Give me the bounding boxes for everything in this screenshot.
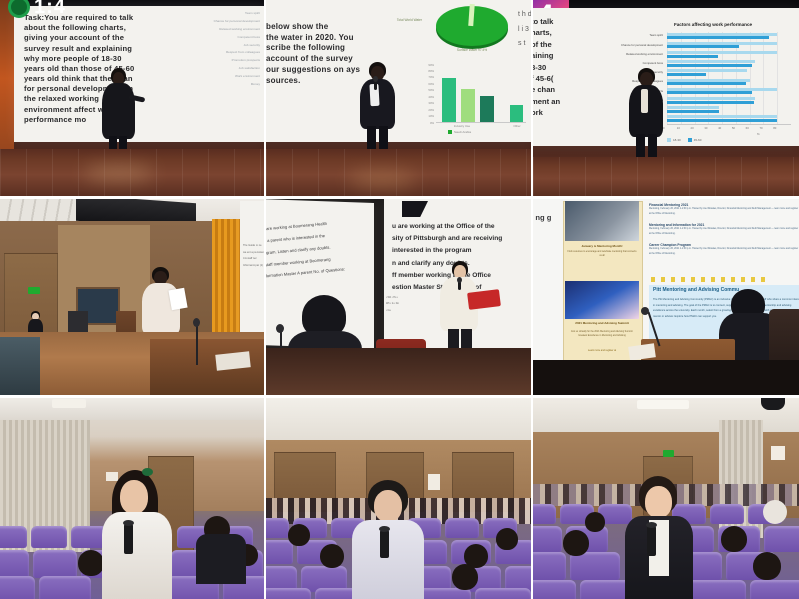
slide-side-label: Competent boss [176,34,260,42]
exit-sign [663,450,674,457]
bar-other [510,105,523,122]
y-axis-tick: 60% [428,82,434,86]
slide-line: u are working at the Office of the [392,221,531,233]
pie-chart: Total World Water Surface Water 97.5% [424,2,516,50]
newsletter-right-column: Financial Mentoring 2021Mentoring, Febru… [649,201,799,277]
white-jacket [102,512,172,599]
bar-plot-area [667,32,791,124]
pie-label-surface: Surface Water 97.5% [442,48,502,53]
slide-right-text-fragment: t h d l i 3 s t [518,8,531,52]
desk-microphone-head [641,307,649,315]
front-lectern [0,337,40,395]
bar-45-60 [667,88,777,91]
panel-top-center: below show thethe water in 2020. Youscri… [266,0,531,196]
newsletter-heading-2: 2021 Mentoring and Advising Summit [567,321,637,325]
audience-questioner-figure [352,480,428,599]
seated-person-body [196,534,246,584]
slide-line: e chan [533,84,573,95]
panel-middle-right: January is Mentoring Month! Find resourc… [533,199,799,395]
legend-swatch-45-60 [688,138,692,142]
audience-head [721,526,747,552]
chart-title: Factors affecting work performance [633,22,793,27]
legend-label: Saudi Arabia [454,130,471,134]
newsletter-cta: Learn more and register at [567,349,637,352]
slide-line: about the following charts, [24,23,172,33]
desk-microphone-head [276,324,284,333]
audience-head [288,524,310,546]
audience-head [496,528,518,550]
legend-swatch [448,130,452,134]
slide-text-fragment: to talkharts,of theaining8-30f 45-6(e ch… [533,16,573,119]
slide-line: interested in the program [392,245,531,257]
slide-text-fragment: e ng g [533,207,559,229]
slide-line: f 45-6( [533,73,573,84]
pie-label-total: Total World Water [364,18,422,22]
audience-head [753,552,781,580]
y-axis-tick: 80% [428,69,434,73]
gridline [763,32,764,124]
handheld-microphone [647,526,656,556]
panel-middle-center: You are working at Boomerang Healthand a… [266,199,531,395]
slide-side-labels: Team spiritChance for personal developme… [176,10,260,89]
face [645,486,672,518]
gridline [777,32,778,124]
x-axis [667,124,791,125]
floor-reflection [84,166,154,180]
newsletter-body-2: Join us virtually for the 2021 Mentoring… [567,330,637,339]
legend-label-45-60: 45-60 [694,138,702,142]
y-axis-tick: 30% [428,101,434,105]
bar-18-30 [667,82,746,85]
y-axis-tick: 50% [428,88,434,92]
chart-legend: Saudi Arabia [448,130,471,134]
bar-category-label: Team spirit [649,33,663,37]
newsletter-body-1: Find resources to encourage and celebrat… [567,250,637,259]
slide-line: why more people of 18-30 [24,54,172,64]
stage-floor [533,157,799,196]
bar-18-30 [667,45,739,48]
slide-side-label: Work environment [176,73,260,81]
slide-line: of the [533,39,573,50]
legend-label-18-30: 18-30 [673,138,681,142]
slide-left-text: You are working at Boomerang Healthand a… [266,214,370,282]
newsletter-item-body: Mentoring, February 26, 2021 1-2:30 p.m.… [649,247,799,256]
slide-line: below show the [266,22,402,33]
handheld-microphone [458,281,461,290]
bar-45-60 [667,42,777,45]
exit-sign [28,287,40,294]
face [374,490,402,522]
wall-notice [428,474,440,490]
slide-side-label: Promotion prospects [176,57,260,65]
newsletter-heading-1: January is Mentoring Month! [567,244,637,248]
panel-top-right: 4 to talkharts,of theaining8-30f 45-6(e … [533,0,799,196]
slide-side-label: Job security [176,42,260,50]
wall-notice [771,446,785,460]
y-axis-tick: 70% [428,75,434,79]
newsletter-banner [565,281,639,319]
y-axis-tick: 0% [430,121,434,125]
bar-45-60 [667,115,777,118]
bar-18-30 [667,91,752,94]
audience-head [320,544,344,568]
panel-bottom-center [266,398,531,599]
slide-line: scribe the following [266,43,402,54]
newsletter-item-body: Mentoring, February 26, 2021 1-2:30 p.m.… [649,227,799,236]
masked-attendee [763,500,787,524]
handheld-microphone [380,530,389,558]
bar-45-60 [667,51,777,54]
x-axis-tick: 50 [732,126,735,130]
x-axis-tick: 40 [718,126,721,130]
slide-side-label: Relaxed working environment [176,26,260,34]
x-ticks: 01020304050607080 [667,126,791,134]
panel-top-left: Task:You are required to talkabout the f… [0,0,264,196]
bar-18-30 [667,119,777,122]
ceiling [266,398,531,442]
slide-line: giving your account of the [24,33,172,43]
script-paper [168,288,187,310]
x-axis [436,122,526,123]
bar-45-60 [667,97,755,100]
panel-middle-left: The Guide m ne we ent a pa Listen tt A s… [0,199,264,395]
stage-floor [266,348,531,395]
projection-screen [240,201,264,351]
slide-bullet-list: • Wh • Ho • Wh • Is • Do • Ca [386,295,400,314]
slide-line: sity of Pittsburgh and are receiving [392,233,531,245]
bar-45-60 [667,79,750,82]
slide-line: aining [533,50,573,61]
gridline [750,32,751,124]
bar-45-60 [667,60,755,63]
bar-industry-use [442,78,456,122]
bar-agriculture [461,89,475,122]
handheld-microphone [374,80,377,90]
chart-legend: 18-30 45-60 [667,138,701,142]
slide-side-label: Job satisfaction [176,65,260,73]
bar-18-30 [667,64,752,67]
bar-18-30 [667,110,719,113]
desk-microphone [196,323,198,365]
newsletter-item-body: Mentoring, February 26, 2021 1-2:30 p.m.… [649,207,799,216]
floor-reflection [348,172,416,186]
newsletter-photo [565,201,639,241]
slide-side-label: Team spirit [176,10,260,18]
y-axis-ticks: 90%80%70%60%50%40%30%20%10%0% [418,64,434,122]
x-axis-tick: 80 [773,126,776,130]
bar-18-30 [667,55,718,58]
bar-18-30 [667,101,754,104]
bar-category-label: Competent boss [643,61,663,65]
vertical-bar-chart: 90%80%70%60%50%40%30%20%10%0% Industry U… [418,64,530,138]
y-axis-tick: 20% [428,108,434,112]
slide-line: ork [533,107,573,118]
audience-questioner-figure [625,476,695,599]
desk-microphone-head [193,318,200,327]
bar-domestic [480,96,494,122]
y-axis-tick: 10% [428,114,434,118]
slide-line: ment an [533,96,573,107]
slide-side-label: Money [176,81,260,89]
slide-side-label: Chance for personal development [176,18,260,26]
audience-questioner-figure [98,468,178,599]
x-axis-tick: 10 [677,126,680,130]
overlay-timer-badge: 1:4 [8,0,66,18]
bar-45-60 [667,33,777,36]
slide-line: 8-30 [533,62,573,73]
y-axis-tick: 40% [428,95,434,99]
timer-digits: 1:4 [34,0,66,19]
panel-bottom-left [0,398,264,599]
audience-head [585,512,605,532]
slide-line: the water in 2020. You [266,33,402,44]
newsletter-divider-dots [651,277,771,282]
y-axis-tick: 90% [428,63,434,67]
floor [533,360,799,395]
face [120,480,148,514]
audience-head [452,564,478,590]
x-axis-tick: 60 [746,126,749,130]
audience-head [563,530,589,556]
bar-18-30 [667,36,769,39]
bar-45-60 [667,106,719,109]
bar-category-label: Chance for personal development [621,43,663,47]
ceiling [0,398,264,420]
x-axis-label: % [757,132,760,136]
bar-18-30 [667,73,706,76]
slide-side-label: Respect from colleagues [176,49,260,57]
ceiling-light [52,399,86,408]
panel-bottom-right [533,398,799,599]
x-axis-tick: 20 [691,126,694,130]
hair-tie [142,468,153,476]
x-label-other: Other [506,124,528,128]
bar-45-60 [667,69,747,72]
ceiling-light [637,400,689,409]
slide-line: harts, [533,27,573,38]
x-axis-tick: 70 [759,126,762,130]
x-label-industry: Industry Use [440,124,484,128]
slide-line: survey result and explaining [24,44,172,54]
photo-collage: Task:You are required to talkabout the f… [0,0,799,599]
slide-line: to talk [533,16,573,27]
x-axis-tick: 30 [704,126,707,130]
handheld-microphone [124,524,133,554]
screen-text-fragment: The Guide m ne we ent a pa Listen tt A s… [243,243,264,270]
ceiling-speaker [761,398,785,410]
bar-category-label: Relaxed working environment [626,52,663,56]
